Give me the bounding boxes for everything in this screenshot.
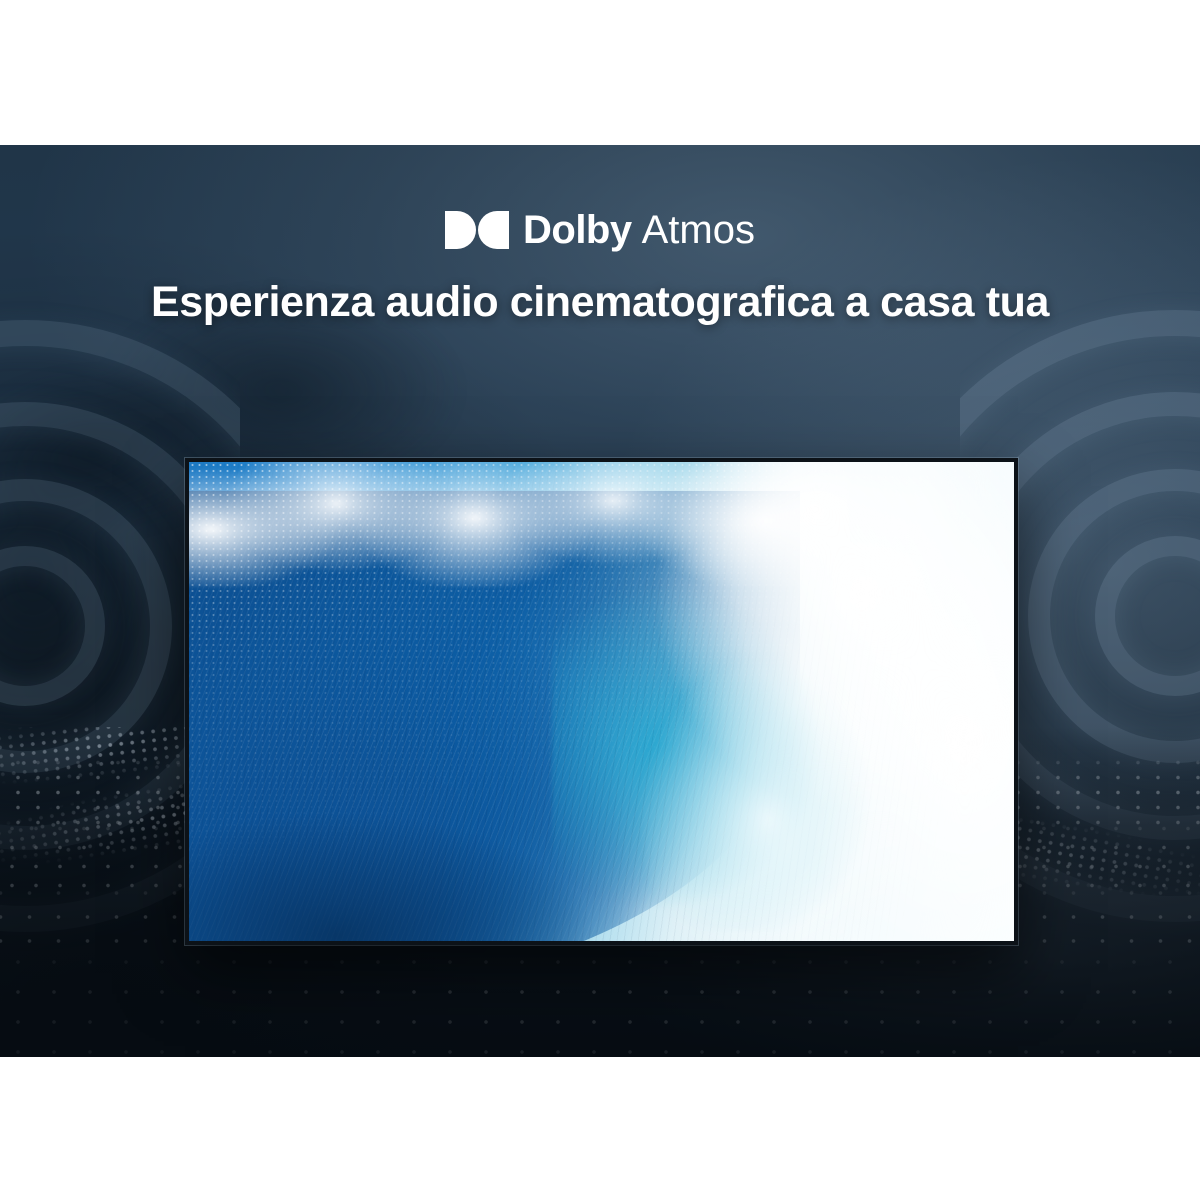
dolby-atmos-banner: Dolby Atmos Esperienza audio cinematogra… <box>0 145 1200 1057</box>
wave-foam-speckle <box>189 462 1014 941</box>
television <box>185 458 1018 945</box>
headline-text: Esperienza audio cinematografica a casa … <box>0 279 1200 326</box>
dolby-double-d-icon <box>445 211 509 249</box>
page-root: Dolby Atmos Esperienza audio cinematogra… <box>0 0 1200 1200</box>
ocean-wave-photo <box>189 462 1014 941</box>
dolby-wordmark: Dolby <box>523 210 632 250</box>
dolby-atmos-logo: Dolby Atmos <box>0 207 1200 253</box>
television-screen <box>189 462 1014 941</box>
atmos-wordmark: Atmos <box>642 210 755 250</box>
